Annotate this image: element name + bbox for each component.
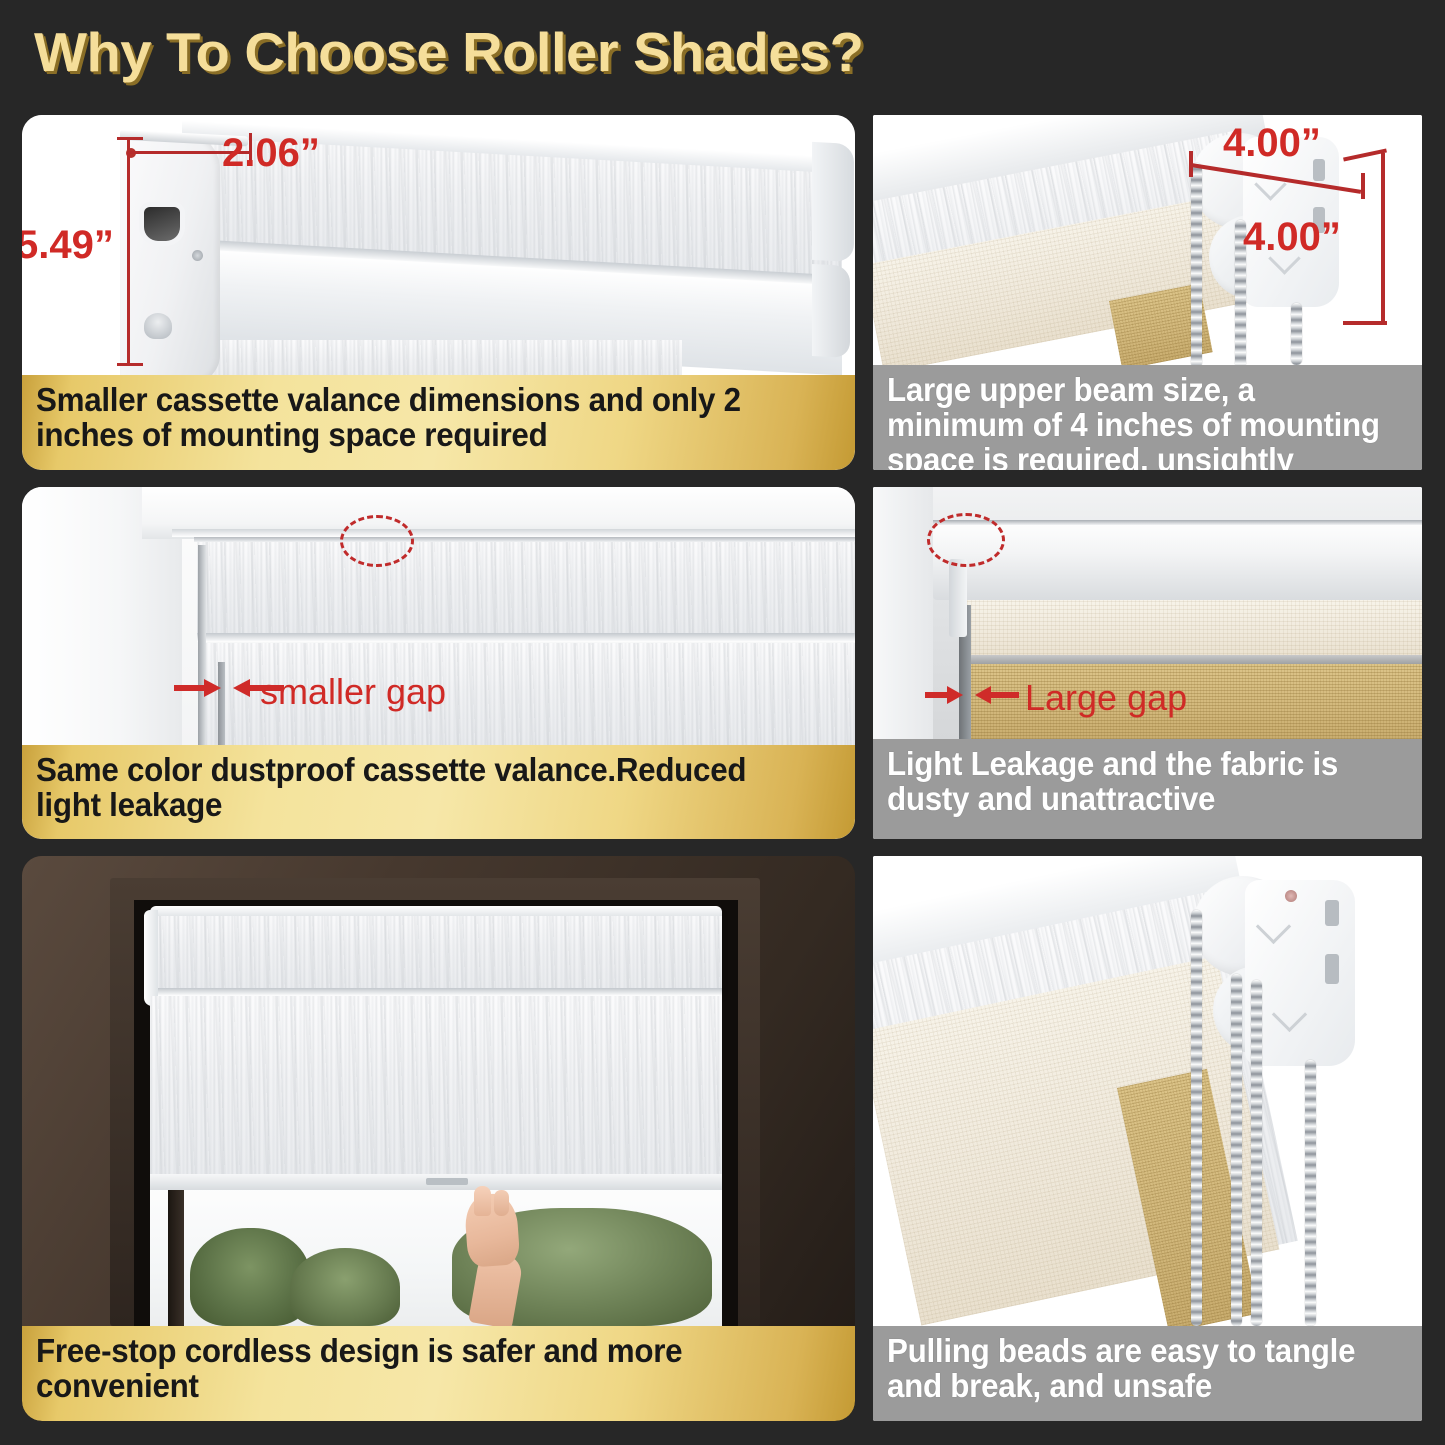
gap-arrow-left-icon (174, 685, 208, 691)
panel-1-caption: Smaller cassette valance dimensions and … (22, 375, 855, 470)
panel-3-caption-text: Same color dustproof cassette valance.Re… (36, 753, 801, 823)
shade-left-rail (198, 545, 206, 745)
panel-2-caption-text: Large upper beam size, a minimum of 4 in… (887, 373, 1382, 470)
panel-5-caption: Free-stop cordless design is safer and m… (22, 1326, 855, 1421)
smaller-gap-label: smaller gap (260, 671, 446, 713)
p2-width-label: 4.00” (1223, 121, 1321, 166)
panel-5: Free-stop cordless design is safer and m… (22, 856, 855, 1421)
tree-center (290, 1248, 400, 1326)
panel-3-caption: Same color dustproof cassette valance.Re… (22, 745, 855, 839)
gap-arrow-left-head-icon (947, 686, 963, 704)
panel-4: Large gap Light Leakage and the fabric i… (873, 487, 1422, 839)
panel-1-image: 2.06” 5.49” (22, 115, 855, 375)
panel-2-image: 4.00” 4.00” (873, 115, 1422, 365)
panel-4-caption: Light Leakage and the fabric is dusty an… (873, 739, 1422, 839)
gap-strip (218, 662, 225, 745)
panel-4-image: Large gap (873, 487, 1422, 739)
headrail (933, 522, 1422, 600)
bead-chain-third (1251, 980, 1262, 1326)
panel-3: smaller gap Same color dustproof cassett… (22, 487, 855, 839)
p2-height-dim-line (1381, 153, 1385, 325)
height-dim-tick-bottom (117, 363, 143, 366)
headrail-top-line (933, 520, 1422, 525)
large-gap-label: Large gap (1025, 677, 1187, 719)
hand-thumb-icon (494, 1190, 509, 1216)
panel-6-image (873, 856, 1422, 1326)
bead-chain-front (1191, 163, 1202, 365)
p2-width-tick-left (1189, 151, 1193, 177)
bracket-slot-icon (144, 207, 180, 241)
width-dim-label: 2.06” (222, 131, 320, 176)
valance-right-cap (812, 142, 854, 262)
panel-6-caption-text: Pulling beads are easy to tangle and bre… (887, 1334, 1382, 1404)
height-dim-line-b (127, 265, 130, 365)
bead-chain-back (1305, 1060, 1316, 1326)
valance-groove (150, 988, 722, 996)
p2-height-label: 4.00” (1243, 215, 1341, 260)
height-dim-label: 5.49” (22, 223, 120, 268)
valance-top-highlight (150, 906, 722, 916)
detail-highlight-circle (340, 515, 414, 567)
panel-2: 4.00” 4.00” Large upper beam size, a min… (873, 115, 1422, 470)
bracket-mount-slot-2 (1325, 954, 1339, 984)
screw-head-upper-icon (192, 250, 203, 261)
shade-valance (150, 908, 722, 994)
bead-chain-second (1231, 974, 1242, 1326)
panel-6: Pulling beads are easy to tangle and bre… (873, 856, 1422, 1421)
p2-height-tick-bottom (1343, 321, 1387, 325)
panel-4-caption-text: Light Leakage and the fabric is dusty an… (887, 747, 1382, 817)
valance-left-cap (144, 910, 158, 1006)
panel-5-image (22, 856, 855, 1326)
panel-3-image: smaller gap (22, 487, 855, 745)
fabric-band-shadow (959, 655, 1422, 664)
casing-bevel (172, 529, 855, 537)
gap-arrow-left-head-icon (204, 679, 221, 697)
bracket-mount-slot-1 (1325, 900, 1339, 926)
valance-end-cap (120, 133, 220, 375)
panel-6-caption: Pulling beads are easy to tangle and bre… (873, 1326, 1422, 1421)
panel-1-caption-text: Smaller cassette valance dimensions and … (36, 383, 801, 453)
bead-chain-front (1191, 910, 1202, 1326)
panel-2-caption: Large upper beam size, a minimum of 4 in… (873, 365, 1422, 470)
detail-highlight-circle (927, 513, 1005, 567)
window-mullion (168, 1186, 184, 1326)
bead-chain-back (1291, 303, 1302, 365)
roller-shade-fabric (150, 996, 722, 1188)
wall-left-edge (873, 487, 933, 739)
infographic-root: Why To Choose Roller Shades? (0, 0, 1445, 1445)
valance-right-cap-lower (812, 264, 850, 358)
valance-top-line (194, 537, 855, 542)
gap-arrow-right-icon (250, 685, 284, 691)
height-dim-tick-top (117, 137, 143, 140)
p2-width-tick-right (1361, 173, 1365, 199)
panel-1: 2.06” 5.49” Smaller cassette valance dim… (22, 115, 855, 470)
cassette-valance (197, 539, 855, 635)
panel-grid: 2.06” 5.49” Smaller cassette valance dim… (0, 0, 1445, 1445)
valance-bottom-groove (197, 633, 855, 642)
hand-finger-icon (474, 1186, 491, 1216)
cream-fabric-band (959, 600, 1422, 662)
gap-arrow-right-head-icon (233, 679, 250, 697)
bracket-screw-icon (1285, 890, 1297, 902)
shade-brand-tab (426, 1178, 468, 1185)
screw-head-lower-icon (144, 313, 172, 339)
gap-arrow-right-head-icon (975, 686, 991, 704)
shade-fabric-panel (182, 340, 682, 375)
gap-arrow-right-icon (991, 692, 1019, 698)
mounting-clip-icon (949, 559, 967, 637)
panel-5-caption-text: Free-stop cordless design is safer and m… (36, 1334, 801, 1404)
